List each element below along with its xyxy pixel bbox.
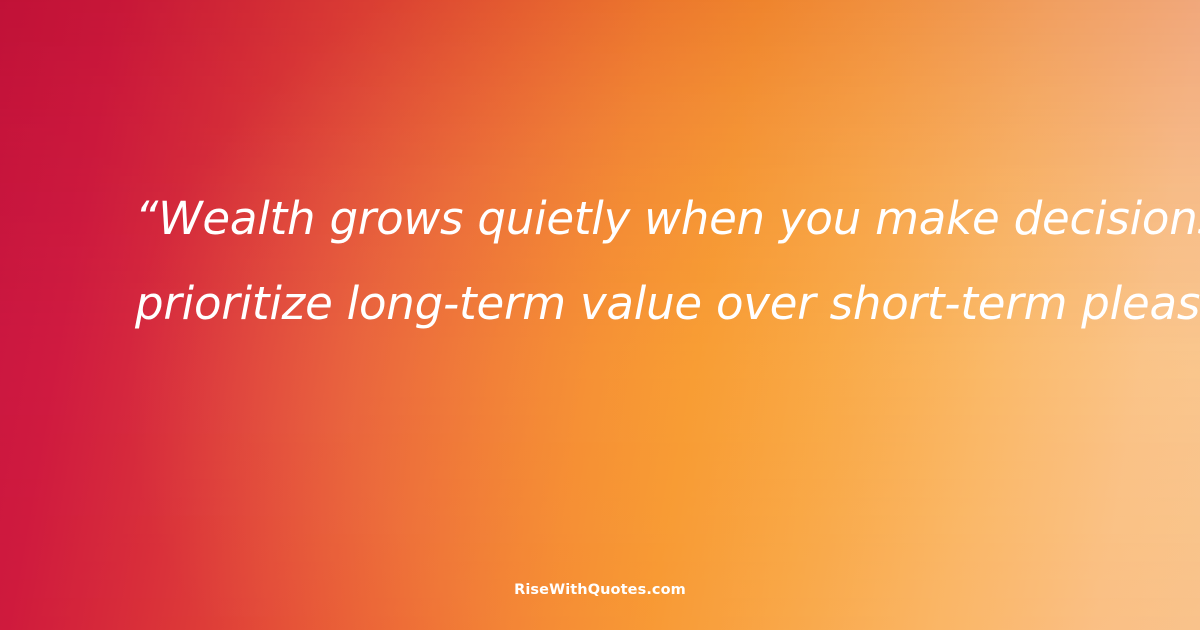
- quote-line-1: “Wealth grows quietly when you make deci…: [135, 176, 1095, 261]
- site-credit-label: RiseWithQuotes.com: [0, 582, 1200, 598]
- quote-poster: “Wealth grows quietly when you make deci…: [0, 0, 1200, 630]
- quote-text: “Wealth grows quietly when you make deci…: [135, 176, 1095, 346]
- poster-content: “Wealth grows quietly when you make deci…: [0, 0, 1200, 630]
- quote-line-2: prioritize long-term value over short-te…: [135, 261, 1095, 346]
